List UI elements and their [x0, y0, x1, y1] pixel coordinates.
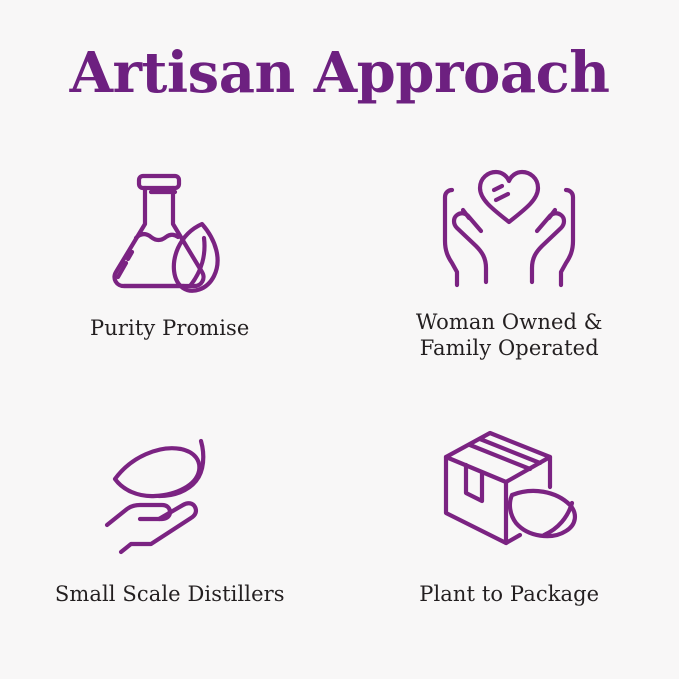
artisan-approach-panel: Artisan Approach — [0, 0, 679, 679]
feature-label: Purity Promise — [90, 316, 249, 342]
feature-grid: Purity Promise — [0, 150, 679, 650]
hand-leaf-icon — [85, 420, 255, 560]
box-leaf-icon — [424, 420, 594, 560]
feature-label: Small Scale Distillers — [55, 582, 285, 608]
feature-label: Woman Owned & Family Operated — [416, 310, 603, 361]
hands-heart-icon — [424, 160, 594, 290]
page-title: Artisan Approach — [0, 44, 679, 103]
feature-card-plant-to-package[interactable]: Plant to Package — [340, 400, 679, 650]
feature-label: Plant to Package — [419, 582, 599, 608]
feature-card-purity-promise[interactable]: Purity Promise — [0, 150, 340, 400]
feature-card-woman-owned[interactable]: Woman Owned & Family Operated — [340, 150, 679, 400]
flask-leaf-icon — [85, 160, 255, 300]
feature-card-small-scale[interactable]: Small Scale Distillers — [0, 400, 340, 650]
